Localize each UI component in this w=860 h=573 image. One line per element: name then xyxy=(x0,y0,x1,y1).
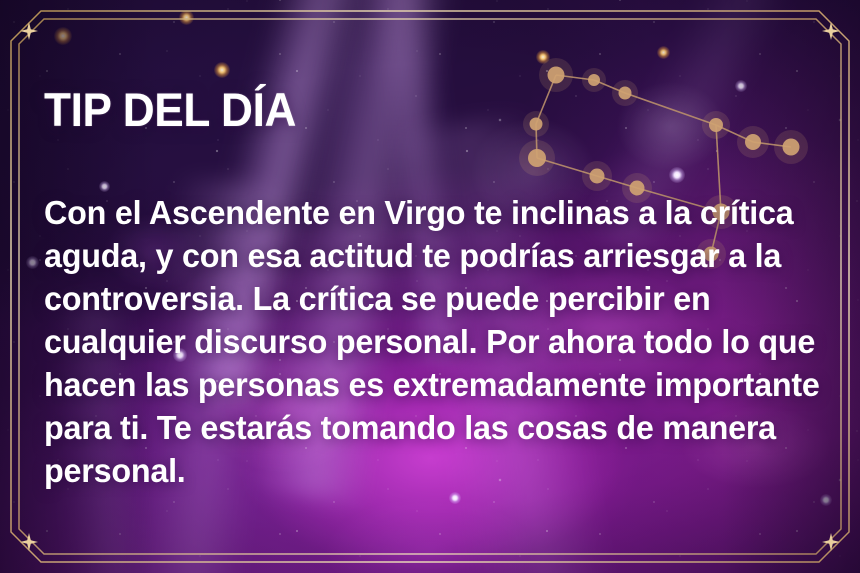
point-star xyxy=(54,27,72,45)
point-star xyxy=(26,256,39,269)
constellation-node xyxy=(548,67,565,84)
point-star xyxy=(214,62,230,78)
constellation-node xyxy=(588,74,600,86)
sparkle-icon-top-right xyxy=(822,22,840,40)
point-star xyxy=(536,50,550,64)
point-star xyxy=(179,10,194,25)
page-title: TIP DEL DÍA xyxy=(44,86,787,134)
tip-body-text: Con el Ascendente en Virgo te inclinas a… xyxy=(44,192,833,493)
sparkle-icon-top-left xyxy=(20,22,38,40)
tip-of-the-day-card: TIP DEL DÍA Con el Ascendente en Virgo t… xyxy=(0,0,860,573)
card-content: TIP DEL DÍA Con el Ascendente en Virgo t… xyxy=(44,86,834,526)
constellation-line xyxy=(556,75,594,80)
point-star xyxy=(657,46,670,59)
sparkle-icon-bottom-left xyxy=(20,533,38,551)
sparkle-icon-bottom-right xyxy=(822,533,840,551)
